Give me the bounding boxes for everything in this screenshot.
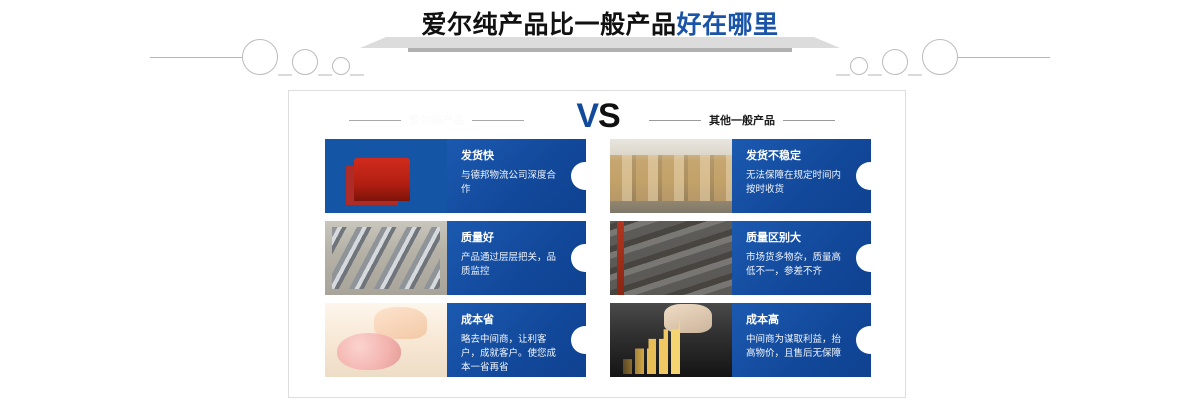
decoration-segment <box>318 74 332 75</box>
ribbon-base <box>408 48 792 52</box>
page-title-main: 爱尔纯产品比一般产品 <box>421 10 676 39</box>
decoration-segment <box>278 74 292 75</box>
header-decoration-right <box>836 57 958 93</box>
semi-truck-highway-photo <box>325 139 447 213</box>
ribbon-right-bevel <box>814 37 840 48</box>
hand-coin-piggy-bank-photo <box>325 303 447 377</box>
decoration-segment <box>836 74 850 75</box>
hand-stacking-gold-coins-photo <box>610 303 732 377</box>
header-line <box>783 120 835 121</box>
comparison-rows: 发货快 与德邦物流公司深度合作 发货不稳定 无法保障在规定时间内按时收货 质量好 <box>325 139 871 385</box>
advantage-card-body: 质量好 产品通过层层把关，品质监控 <box>447 221 586 295</box>
advantage-card[interactable]: 质量好 产品通过层层把关，品质监控 <box>325 221 586 295</box>
advantage-card-desc: 与德邦物流公司深度合作 <box>461 169 560 197</box>
stacked-dark-pipes-photo <box>610 221 732 295</box>
advantage-card-title: 质量好 <box>461 231 560 244</box>
decoration-circle-medium <box>882 49 908 75</box>
drawback-card[interactable]: 发货不稳定 无法保障在规定时间内按时收货 <box>610 139 871 213</box>
comparison-row: 质量好 产品通过层层把关，品质监控 质量区别大 市场货多物杂，质量高低不一，参差… <box>325 221 871 295</box>
advantage-card-desc: 略去中间商，让利客户，成就客户。使您成本一省再省 <box>461 333 560 374</box>
warehouse-cardboard-boxes-photo <box>610 139 732 213</box>
drawback-card-body: 质量区别大 市场货多物杂，质量高低不一，参差不齐 <box>732 221 871 295</box>
decoration-circle-large <box>922 39 958 75</box>
decoration-segment <box>908 74 922 75</box>
advantage-card-title: 成本省 <box>461 313 560 326</box>
card-notch <box>571 162 586 190</box>
stainless-steel-tubes-photo <box>325 221 447 295</box>
comparison-row: 发货快 与德邦物流公司深度合作 发货不稳定 无法保障在规定时间内按时收货 <box>325 139 871 213</box>
advantage-card[interactable]: 发货快 与德邦物流公司深度合作 <box>325 139 586 213</box>
advantage-card-body: 成本省 略去中间商，让利客户，成就客户。使您成本一省再省 <box>447 303 586 377</box>
drawback-card-desc: 中间商为谋取利益，抬高物价，且售后无保障 <box>746 333 845 361</box>
card-notch <box>571 326 586 354</box>
card-notch <box>571 244 586 272</box>
drawback-card-desc: 市场货多物杂，质量高低不一，参差不齐 <box>746 251 845 279</box>
advantage-card[interactable]: 成本省 略去中间商，让利客户，成就客户。使您成本一省再省 <box>325 303 586 377</box>
header-rule-right <box>958 57 1050 58</box>
title-ribbon <box>360 37 840 51</box>
drawback-card-desc: 无法保障在规定时间内按时收货 <box>746 169 845 197</box>
advantage-card-body: 发货快 与德邦物流公司深度合作 <box>447 139 586 213</box>
page-title: 爱尔纯产品比一般产品好在哪里 <box>0 11 1200 39</box>
right-column-label: 其他一般产品 <box>709 112 775 128</box>
decoration-segment <box>350 74 364 75</box>
drawback-card-title: 成本高 <box>746 313 845 326</box>
page-header: 爱尔纯产品比一般产品好在哪里 <box>0 0 1200 80</box>
ribbon-left-bevel <box>360 37 386 48</box>
decoration-circle-small <box>850 57 868 75</box>
advantage-card-desc: 产品通过层层把关，品质监控 <box>461 251 560 279</box>
drawback-card-body: 成本高 中间商为谋取利益，抬高物价，且售后无保障 <box>732 303 871 377</box>
drawback-card-title: 质量区别大 <box>746 231 845 244</box>
card-notch <box>856 162 871 190</box>
vs-letter-s: S <box>598 97 620 135</box>
header-rule-left <box>150 57 242 58</box>
drawback-card[interactable]: 质量区别大 市场货多物杂，质量高低不一，参差不齐 <box>610 221 871 295</box>
decoration-circle-small <box>332 57 350 75</box>
comparison-row: 成本省 略去中间商，让利客户，成就客户。使您成本一省再省 成本高 中间商为谋取利… <box>325 303 871 377</box>
drawback-card-title: 发货不稳定 <box>746 149 845 162</box>
decoration-segment <box>868 74 882 75</box>
decoration-circle-large <box>242 39 278 75</box>
vs-letter-v: V <box>576 97 598 135</box>
card-notch <box>856 326 871 354</box>
right-column-header: 其他一般产品 <box>649 103 835 137</box>
decoration-circle-medium <box>292 49 318 75</box>
header-line <box>649 120 701 121</box>
header-decoration-left <box>242 57 364 93</box>
drawback-card[interactable]: 成本高 中间商为谋取利益，抬高物价，且售后无保障 <box>610 303 871 377</box>
card-notch <box>856 244 871 272</box>
page-title-highlight: 好在哪里 <box>677 10 779 39</box>
comparison-header: 爱尔纯产品 VS 其他一般产品 <box>289 103 907 137</box>
comparison-panel: 爱尔纯产品 VS 其他一般产品 发货快 与德邦物流公司深度合作 <box>288 90 906 398</box>
drawback-card-body: 发货不稳定 无法保障在规定时间内按时收货 <box>732 139 871 213</box>
advantage-card-title: 发货快 <box>461 149 560 162</box>
